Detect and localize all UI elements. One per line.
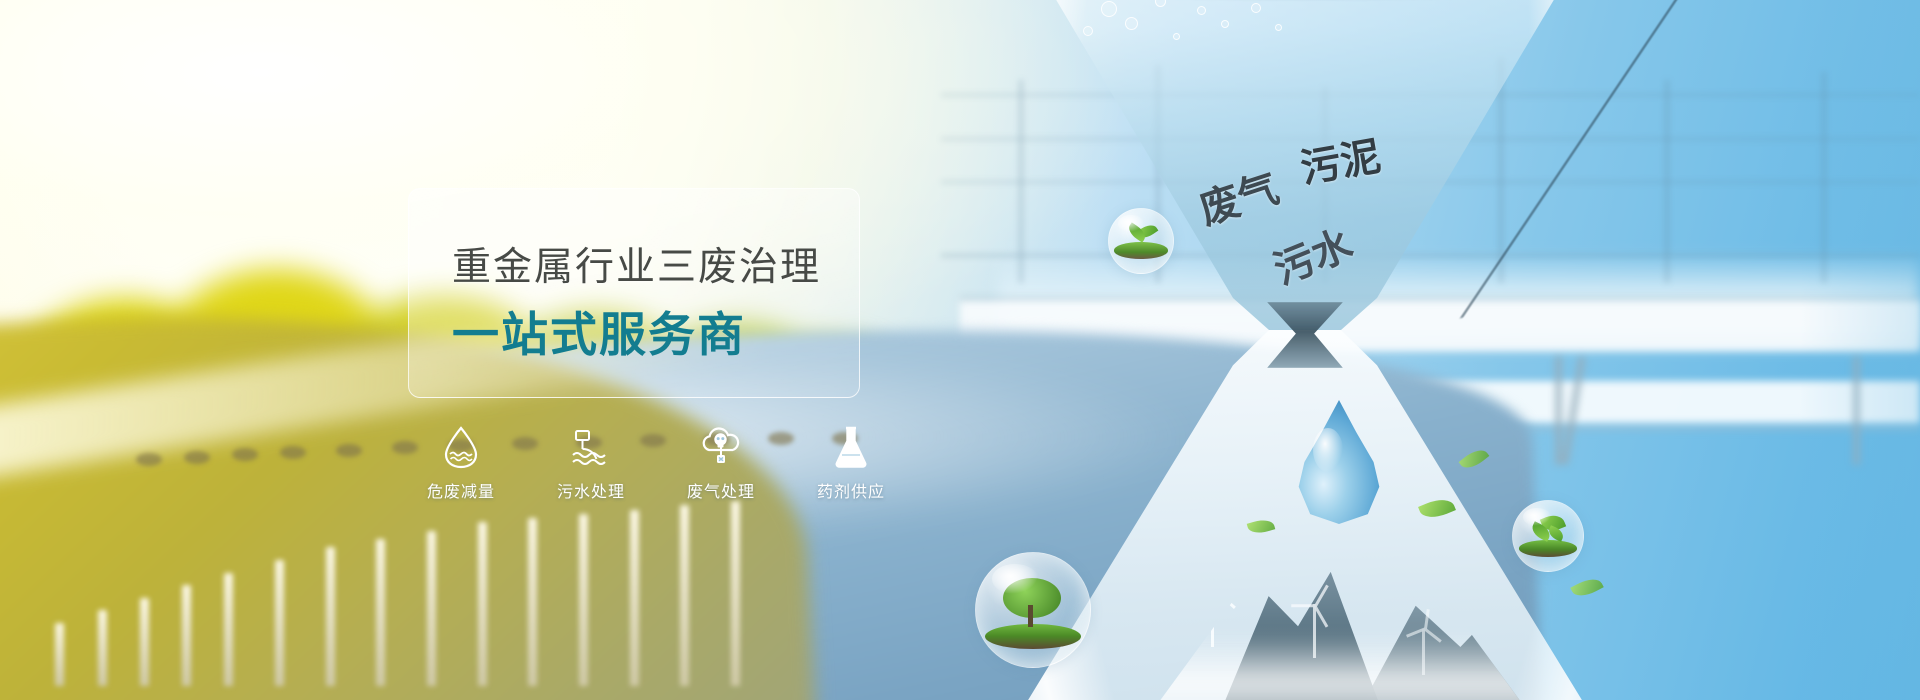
feature-list: 危废减量 污水处理 <box>396 424 916 510</box>
sprout-sphere <box>1108 208 1174 274</box>
wind-turbine <box>1409 609 1439 675</box>
droplet-highlight <box>1313 428 1343 472</box>
wind-turbine <box>1297 582 1331 658</box>
feature-label: 药剂供应 <box>817 478 885 502</box>
feature-label: 废气处理 <box>687 478 755 502</box>
flask-icon <box>828 424 874 470</box>
feature-item-wastewater-treatment[interactable]: 污水处理 <box>526 424 656 510</box>
headline-card <box>408 188 860 398</box>
feature-item-chemical-supply[interactable]: 药剂供应 <box>786 424 916 510</box>
feature-label: 污水处理 <box>557 478 625 502</box>
air-bubbles <box>1065 0 1365 82</box>
feature-item-waste-gas-treatment[interactable]: 废气处理 <box>656 424 786 510</box>
feature-label: 危废减量 <box>427 478 495 502</box>
tree-sphere <box>975 552 1091 668</box>
toxic-cloud-icon <box>698 424 744 470</box>
plant-sphere <box>1512 500 1584 572</box>
water-drop-icon <box>438 424 484 470</box>
page-subtitle: 一站式服务商 <box>452 296 872 365</box>
page-title: 重金属行业三废治理 <box>452 236 872 292</box>
hourglass-graphic <box>1005 0 1605 700</box>
hero-banner: 废气 污泥 污水 重金属行业三废治理 一站式服务商 <box>0 0 1920 700</box>
feature-item-hazardous-waste-reduction[interactable]: 危废减量 <box>396 424 526 510</box>
discharge-pipe-icon <box>568 424 614 470</box>
